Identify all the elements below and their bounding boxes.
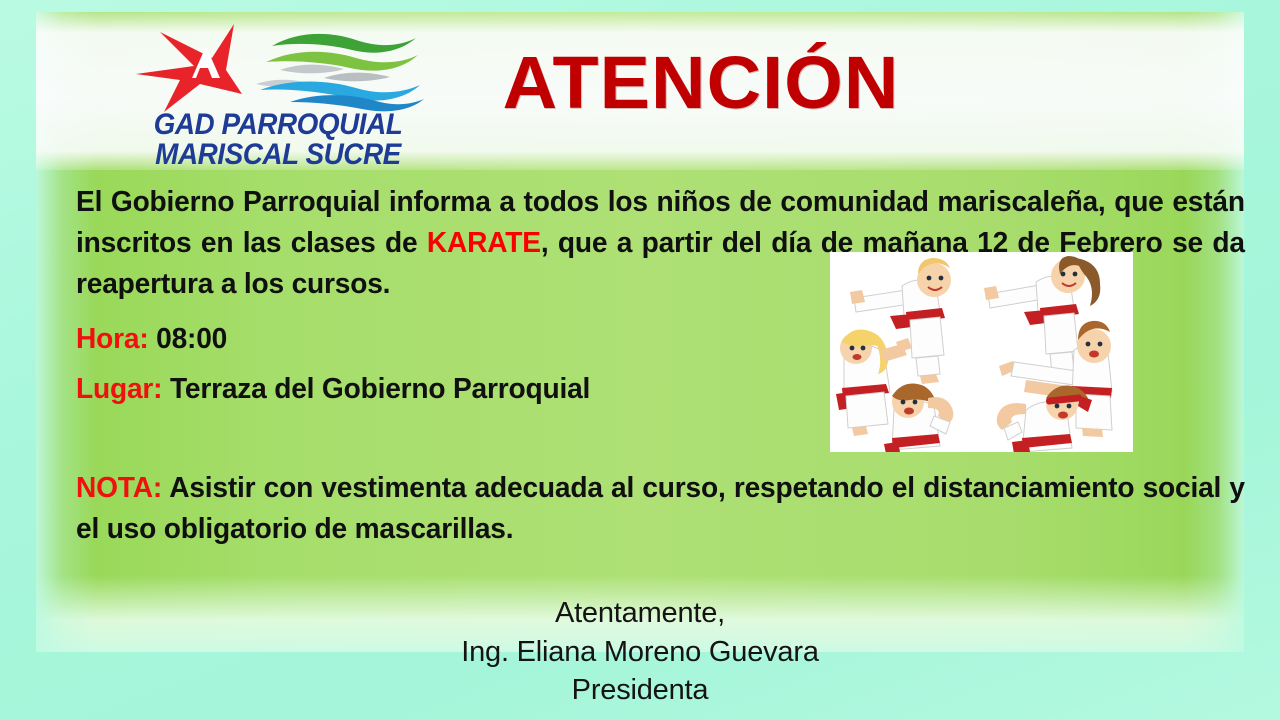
- field-lugar-value: Terraza del Gobierno Parroquial: [170, 373, 590, 405]
- note-label: NOTA:: [76, 472, 162, 504]
- logo-line-1: GAD PARROQUIAL: [114, 110, 441, 140]
- page-title: ATENCIÓN: [461, 46, 940, 120]
- organization-logo: GAD PARROQUIAL MARISCAL SUCRE: [94, 22, 454, 168]
- karate-kids-image: [830, 252, 1133, 452]
- signature-line-2: Ing. Eliana Moreno Guevara: [0, 633, 1280, 672]
- header-band: GAD PARROQUIAL MARISCAL SUCRE ATENCIÓN: [36, 12, 1244, 170]
- logo-wordmark: GAD PARROQUIAL MARISCAL SUCRE: [102, 110, 454, 170]
- karate-keyword: KARATE: [427, 227, 541, 259]
- field-lugar-label: Lugar:: [76, 373, 162, 405]
- poster-panel: GAD PARROQUIAL MARISCAL SUCRE ATENCIÓN E…: [36, 12, 1244, 652]
- logo-line-2: MARISCAL SUCRE: [114, 140, 441, 170]
- signature-line-1: Atentamente,: [0, 594, 1280, 633]
- field-hora-value: 08:00: [156, 323, 227, 355]
- note-paragraph: NOTA: Asistir con vestimenta adecuada al…: [76, 468, 1245, 550]
- field-hora-label: Hora:: [76, 323, 148, 355]
- signature-line-3: Presidenta: [0, 671, 1280, 710]
- signature-block: Atentamente, Ing. Eliana Moreno Guevara …: [0, 594, 1280, 710]
- star-and-waves-icon: [94, 22, 454, 114]
- note-text: Asistir con vestimenta adecuada al curso…: [76, 472, 1245, 545]
